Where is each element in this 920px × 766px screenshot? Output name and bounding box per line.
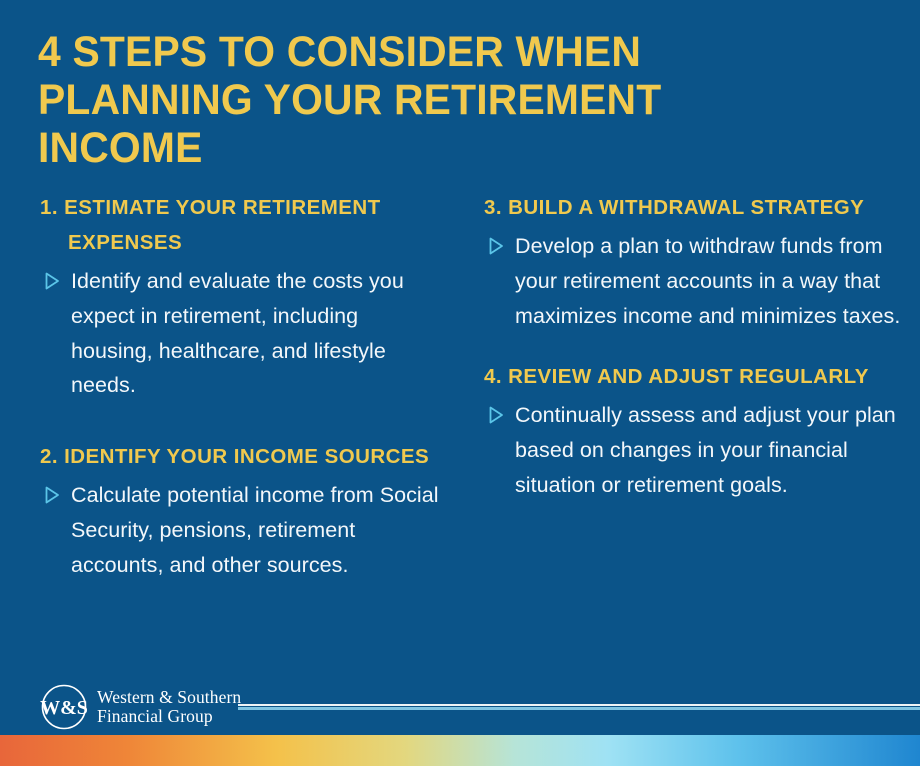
step-4-heading: 4. Review and Adjust Regularly	[484, 359, 902, 394]
step-4-text: Continually assess and adjust your plan …	[510, 398, 902, 502]
footer-divider	[238, 704, 920, 711]
step-4-heading-text: Review and Adjust Regularly	[508, 365, 869, 388]
company-name: Western & Southern Financial Group	[97, 688, 241, 727]
steps-columns: 1. Estimate Your Retirement Expenses Ide…	[0, 190, 920, 609]
step-3-heading: 3. Build a Withdrawal Strategy	[484, 190, 902, 225]
step-4-body: Continually assess and adjust your plan …	[484, 398, 902, 502]
step-3-number: 3.	[484, 196, 502, 219]
steps-column-right: 3. Build a Withdrawal Strategy Develop a…	[0, 190, 920, 609]
divider-line-bottom	[238, 707, 920, 710]
company-logo: W&S Western & Southern Financial Group	[40, 683, 241, 731]
step-3-body: Develop a plan to withdraw funds from yo…	[484, 229, 902, 333]
step-item-3: 3. Build a Withdrawal Strategy Develop a…	[484, 190, 902, 333]
svg-text:W&S: W&S	[40, 697, 88, 719]
page-title: 4 Steps to Consider When Planning Your R…	[38, 28, 789, 172]
infographic-canvas: 4 Steps to Consider When Planning Your R…	[0, 0, 920, 766]
step-4-number: 4.	[484, 365, 502, 388]
ws-circle-logo-icon: W&S	[40, 683, 88, 731]
bottom-gradient-bar	[0, 735, 920, 766]
step-item-4: 4. Review and Adjust Regularly Continual…	[484, 359, 902, 502]
triangle-right-icon	[486, 405, 510, 425]
step-3-heading-text: Build a Withdrawal Strategy	[508, 196, 864, 219]
footer: W&S Western & Southern Financial Group	[0, 675, 920, 735]
triangle-right-icon	[486, 236, 510, 256]
step-3-text: Develop a plan to withdraw funds from yo…	[510, 229, 902, 333]
